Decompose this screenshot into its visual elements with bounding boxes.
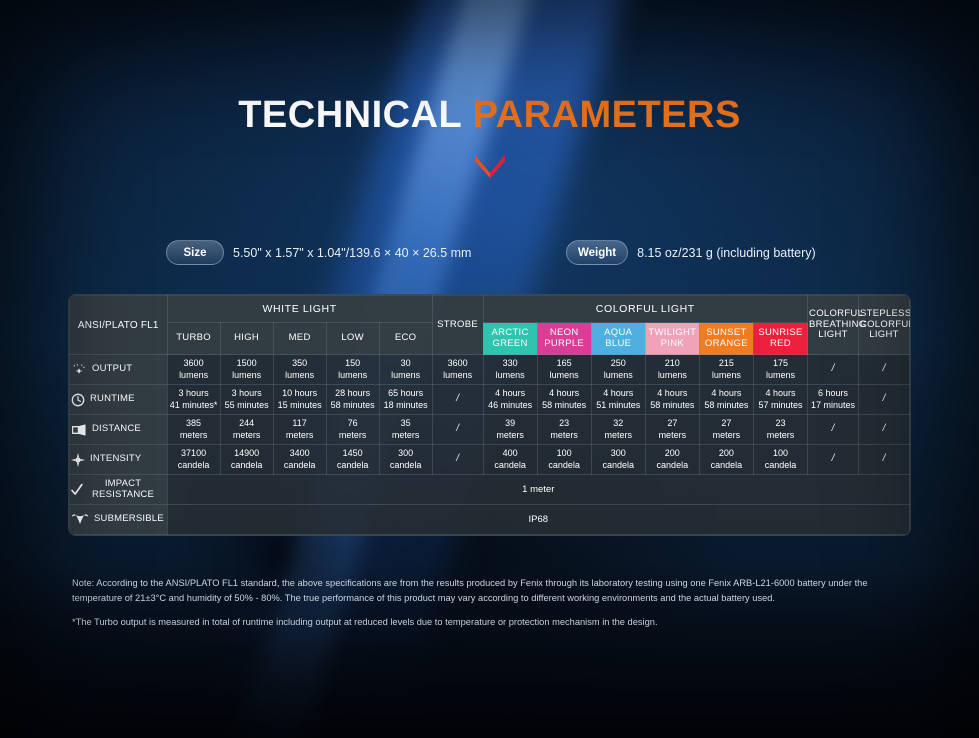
breathing-line3: LIGHT — [818, 329, 847, 340]
cell-runtime-neon-purple: 4 hours58 minutes — [537, 385, 591, 415]
cell-output-twilight-pink: 210lumens — [645, 355, 699, 385]
table-row: OUTPUT3600lumens1500lumens350lumens150lu… — [70, 355, 910, 385]
table-body: OUTPUT3600lumens1500lumens350lumens150lu… — [70, 355, 910, 535]
cell-intensity-aqua-blue: 300candela — [591, 445, 645, 475]
cell-intensity-strobe: / — [432, 445, 483, 475]
specifications-panel: ANSI/PLATO FL1 WHITE LIGHT STROBE COLORF… — [68, 294, 911, 536]
beam-distance-icon — [71, 424, 87, 436]
header-group-row: ANSI/PLATO FL1 WHITE LIGHT STROBE COLORF… — [70, 296, 910, 323]
group-strobe: STROBE — [432, 296, 483, 355]
row-label-text: RUNTIME — [90, 394, 135, 405]
submersible-label-text: SUBMERSIBLE — [94, 514, 164, 525]
cell-runtime-strobe: / — [432, 385, 483, 415]
cell-runtime-sunset-orange: 4 hours58 minutes — [699, 385, 753, 415]
cell-distance-high: 244meters — [220, 415, 273, 445]
row-label-text: OUTPUT — [92, 364, 132, 375]
mode-twilight-pink: TWILIGHT PINK — [645, 323, 699, 355]
water-drop-icon — [71, 513, 89, 526]
sunset-orange-line1: SUNSET — [706, 327, 746, 338]
header-mode-row: TURBO HIGH MED LOW ECO ARCTIC GREEN NEON… — [70, 323, 910, 355]
impact-label-text: IMPACTRESISTANCE — [92, 479, 154, 500]
mode-sunset-orange: SUNSET ORANGE — [699, 323, 753, 355]
cell-intensity-eco: 300candela — [379, 445, 432, 475]
note-turbo: *The Turbo output is measured in total o… — [72, 615, 912, 630]
cell-runtime-med: 10 hours15 minutes — [273, 385, 326, 415]
row-label-intensity: INTENSITY — [70, 445, 168, 475]
corner-label: ANSI/PLATO FL1 — [70, 296, 168, 355]
cell-runtime-arctic-green: 4 hours46 minutes — [483, 385, 537, 415]
twilight-pink-line1: TWILIGHT — [648, 327, 696, 338]
size-spec: Size 5.50" x 1.57" x 1.04"/139.6 × 40 × … — [166, 240, 471, 265]
stepless-line3: LIGHT — [869, 329, 898, 340]
weight-spec: Weight 8.15 oz/231 g (including battery) — [566, 240, 816, 265]
cell-intensity-med: 3400candela — [273, 445, 326, 475]
neon-purple-line1: NEON — [550, 327, 579, 338]
cell-intensity-turbo: 37100candela — [167, 445, 220, 475]
cell-intensity-sunrise-red: 100candela — [753, 445, 807, 475]
chevron-down-icon — [0, 152, 979, 178]
sunset-orange-line2: ORANGE — [705, 338, 748, 349]
cell-distance-sunrise-red: 23meters — [753, 415, 807, 445]
cell-runtime-aqua-blue: 4 hours51 minutes — [591, 385, 645, 415]
weight-value: 8.15 oz/231 g (including battery) — [637, 246, 816, 260]
cell-distance-strobe: / — [432, 415, 483, 445]
cell-output-arctic-green: 330lumens — [483, 355, 537, 385]
cell-distance-eco: 35meters — [379, 415, 432, 445]
size-pill: Size — [166, 240, 224, 265]
sunrise-red-line1: SUNRISE — [758, 327, 802, 338]
specifications-table: ANSI/PLATO FL1 WHITE LIGHT STROBE COLORF… — [69, 295, 910, 535]
cell-output-neon-purple: 165lumens — [537, 355, 591, 385]
page-title: TECHNICAL PARAMETERS — [0, 94, 979, 137]
cell-distance-sunset-orange: 27meters — [699, 415, 753, 445]
light-burst-icon — [71, 363, 87, 377]
mode-high: HIGH — [220, 323, 273, 355]
group-white-light: WHITE LIGHT — [167, 296, 432, 323]
cell-impact-resistance-value: 1 meter — [167, 475, 909, 505]
cell-runtime-turbo: 3 hours41 minutes* — [167, 385, 220, 415]
cell-distance-turbo: 385meters — [167, 415, 220, 445]
size-weight-line: Size 5.50" x 1.57" x 1.04"/139.6 × 40 × … — [0, 240, 979, 268]
cell-intensity-high: 14900candela — [220, 445, 273, 475]
arctic-green-line1: ARCTIC — [492, 327, 529, 338]
mode-arctic-green: ARCTIC GREEN — [483, 323, 537, 355]
cell-output-stepless: / — [858, 355, 909, 385]
check-drop-icon — [71, 483, 87, 497]
page-title-part1: TECHNICAL — [238, 94, 461, 136]
cell-output-breathing: / — [808, 355, 859, 385]
cell-output-med: 350lumens — [273, 355, 326, 385]
cell-distance-arctic-green: 39meters — [483, 415, 537, 445]
row-label-text: INTENSITY — [90, 454, 141, 465]
cell-distance-twilight-pink: 27meters — [645, 415, 699, 445]
cell-runtime-eco: 65 hours18 minutes — [379, 385, 432, 415]
mode-aqua-blue: AQUA BLUE — [591, 323, 645, 355]
cell-runtime-low: 28 hours58 minutes — [326, 385, 379, 415]
cell-distance-breathing: / — [808, 415, 859, 445]
cell-intensity-sunset-orange: 200candela — [699, 445, 753, 475]
cell-distance-low: 76meters — [326, 415, 379, 445]
mode-neon-purple: NEON PURPLE — [537, 323, 591, 355]
cell-output-sunset-orange: 215lumens — [699, 355, 753, 385]
cell-intensity-arctic-green: 400candela — [483, 445, 537, 475]
table-row: RUNTIME3 hours41 minutes*3 hours55 minut… — [70, 385, 910, 415]
row-label-output: OUTPUT — [70, 355, 168, 385]
breathing-line2: BREATHING — [809, 319, 866, 330]
cell-distance-med: 117meters — [273, 415, 326, 445]
arctic-green-line2: GREEN — [492, 338, 527, 349]
note-standard: Note: According to the ANSI/PLATO FL1 st… — [72, 576, 912, 606]
stepless-line2: COLORFUL — [860, 319, 911, 330]
neon-purple-line2: PURPLE — [544, 338, 584, 349]
row-label-text: DISTANCE — [92, 424, 141, 435]
cell-runtime-breathing: 6 hours17 minutes — [808, 385, 859, 415]
cell-output-low: 150lumens — [326, 355, 379, 385]
cell-distance-stepless: / — [858, 415, 909, 445]
table-row-impact-resistance: IMPACTRESISTANCE1 meter — [70, 475, 910, 505]
table-row-submersible: SUBMERSIBLEIP68 — [70, 505, 910, 535]
mode-eco: ECO — [379, 323, 432, 355]
cell-intensity-twilight-pink: 200candela — [645, 445, 699, 475]
row-label-impact-resistance: IMPACTRESISTANCE — [70, 475, 168, 505]
cell-submersible-value: IP68 — [167, 505, 909, 535]
mode-sunrise-red: SUNRISE RED — [753, 323, 807, 355]
weight-pill: Weight — [566, 240, 628, 265]
cell-distance-neon-purple: 23meters — [537, 415, 591, 445]
mode-low: LOW — [326, 323, 379, 355]
breathing-line1: COLORFUL — [809, 308, 863, 319]
cell-intensity-low: 1450candela — [326, 445, 379, 475]
aqua-blue-line1: AQUA — [604, 327, 632, 338]
table-row: INTENSITY37100candela14900candela3400can… — [70, 445, 910, 475]
row-label-distance: DISTANCE — [70, 415, 168, 445]
stepless-line1: STEPLESS — [860, 308, 911, 319]
mode-turbo: TURBO — [167, 323, 220, 355]
cell-output-turbo: 3600lumens — [167, 355, 220, 385]
cell-runtime-sunrise-red: 4 hours57 minutes — [753, 385, 807, 415]
cell-intensity-stepless: / — [858, 445, 909, 475]
crosshair-icon — [71, 453, 85, 467]
col-stepless-colorful: STEPLESS COLORFUL LIGHT — [858, 296, 909, 355]
cell-distance-aqua-blue: 32meters — [591, 415, 645, 445]
row-label-submersible: SUBMERSIBLE — [70, 505, 168, 535]
cell-output-strobe: 3600lumens — [432, 355, 483, 385]
cell-intensity-breathing: / — [808, 445, 859, 475]
footnotes: Note: According to the ANSI/PLATO FL1 st… — [72, 576, 912, 630]
page-title-part2: PARAMETERS — [473, 94, 741, 136]
cell-intensity-neon-purple: 100candela — [537, 445, 591, 475]
cell-output-sunrise-red: 175lumens — [753, 355, 807, 385]
table-header: ANSI/PLATO FL1 WHITE LIGHT STROBE COLORF… — [70, 296, 910, 355]
cell-output-high: 1500lumens — [220, 355, 273, 385]
cell-runtime-twilight-pink: 4 hours58 minutes — [645, 385, 699, 415]
clock-icon — [71, 393, 85, 407]
aqua-blue-line2: BLUE — [605, 338, 631, 349]
cell-runtime-high: 3 hours55 minutes — [220, 385, 273, 415]
col-colorful-breathing: COLORFUL BREATHING LIGHT — [808, 296, 859, 355]
cell-output-aqua-blue: 250lumens — [591, 355, 645, 385]
table-row: DISTANCE385meters244meters117meters76met… — [70, 415, 910, 445]
mode-med: MED — [273, 323, 326, 355]
row-label-runtime: RUNTIME — [70, 385, 168, 415]
group-colorful-light: COLORFUL LIGHT — [483, 296, 808, 323]
cell-runtime-stepless: / — [858, 385, 909, 415]
cell-output-eco: 30lumens — [379, 355, 432, 385]
size-value: 5.50" x 1.57" x 1.04"/139.6 × 40 × 26.5 … — [233, 246, 471, 260]
twilight-pink-line2: PINK — [661, 338, 684, 349]
sunrise-red-line2: RED — [770, 338, 791, 349]
